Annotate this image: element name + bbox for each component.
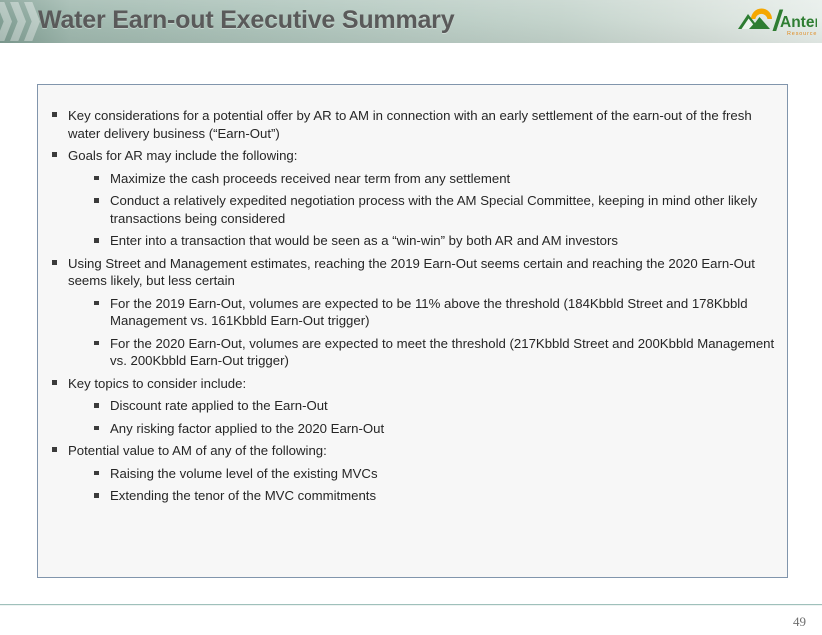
bullet-item-level2: For the 2020 Earn-Out, volumes are expec… [92, 335, 779, 370]
bullet-item-level1: Goals for AR may include the following: [50, 147, 779, 165]
bullet-list: Key considerations for a potential offer… [50, 107, 779, 510]
bullet-item-level2: Conduct a relatively expedited negotiati… [92, 192, 779, 227]
bullet-marker-icon [94, 301, 99, 306]
bullet-marker-icon [94, 471, 99, 476]
bullet-item-level2: Raising the volume level of the existing… [92, 465, 779, 483]
bullet-marker-icon [52, 380, 57, 385]
logo-wordmark: Antero [780, 14, 817, 31]
bullet-marker-icon [94, 403, 99, 408]
bullet-text: Conduct a relatively expedited negotiati… [110, 192, 779, 227]
sun-icon [751, 9, 772, 20]
bullet-marker-icon [94, 341, 99, 346]
bullet-text: Key considerations for a potential offer… [68, 107, 779, 142]
bullet-marker-icon [94, 493, 99, 498]
bullet-item-level1: Potential value to AM of any of the foll… [50, 442, 779, 460]
bullet-text: Discount rate applied to the Earn-Out [110, 397, 779, 415]
bullet-item-level1: Key considerations for a potential offer… [50, 107, 779, 142]
slide-header-band: Water Earn-out Executive Summary [0, 0, 822, 43]
bullet-item-level2: Any risking factor applied to the 2020 E… [92, 420, 779, 438]
chevron-right-icon [0, 2, 12, 41]
bullet-text: Raising the volume level of the existing… [110, 465, 779, 483]
bullet-item-level1: Using Street and Management estimates, r… [50, 255, 779, 290]
bullet-item-level2: Extending the tenor of the MVC commitmen… [92, 487, 779, 505]
chevron-right-icon [10, 2, 26, 41]
bullet-item-level2: For the 2019 Earn-Out, volumes are expec… [92, 295, 779, 330]
bullet-marker-icon [52, 152, 57, 157]
bullet-item-level2: Maximize the cash proceeds received near… [92, 170, 779, 188]
bullet-text: Maximize the cash proceeds received near… [110, 170, 779, 188]
bullet-marker-icon [94, 198, 99, 203]
bullet-text: Using Street and Management estimates, r… [68, 255, 779, 290]
bullet-marker-icon [94, 238, 99, 243]
bullet-item-level1: Key topics to consider include: [50, 375, 779, 393]
bullet-marker-icon [52, 447, 57, 452]
antero-resources-logo: Antero Resources [735, 2, 817, 40]
bullet-text: Potential value to AM of any of the foll… [68, 442, 779, 460]
logo-subtitle: Resources [787, 31, 817, 37]
bullet-text: Key topics to consider include: [68, 375, 779, 393]
bullet-text: Enter into a transaction that would be s… [110, 232, 779, 250]
bullet-marker-icon [94, 426, 99, 431]
bullet-marker-icon [52, 112, 57, 117]
bullet-text: Goals for AR may include the following: [68, 147, 779, 165]
bullet-text: For the 2020 Earn-Out, volumes are expec… [110, 335, 779, 370]
page-title: Water Earn-out Executive Summary [38, 6, 454, 35]
bullet-text: Extending the tenor of the MVC commitmen… [110, 487, 779, 505]
bullet-marker-icon [94, 176, 99, 181]
bullet-item-level2: Discount rate applied to the Earn-Out [92, 397, 779, 415]
footer-divider [0, 604, 822, 606]
bullet-text: Any risking factor applied to the 2020 E… [110, 420, 779, 438]
content-panel: Key considerations for a potential offer… [37, 84, 788, 578]
bullet-item-level2: Enter into a transaction that would be s… [92, 232, 779, 250]
bullet-marker-icon [52, 260, 57, 265]
bullet-text: For the 2019 Earn-Out, volumes are expec… [110, 295, 779, 330]
page-number: 49 [793, 614, 806, 630]
